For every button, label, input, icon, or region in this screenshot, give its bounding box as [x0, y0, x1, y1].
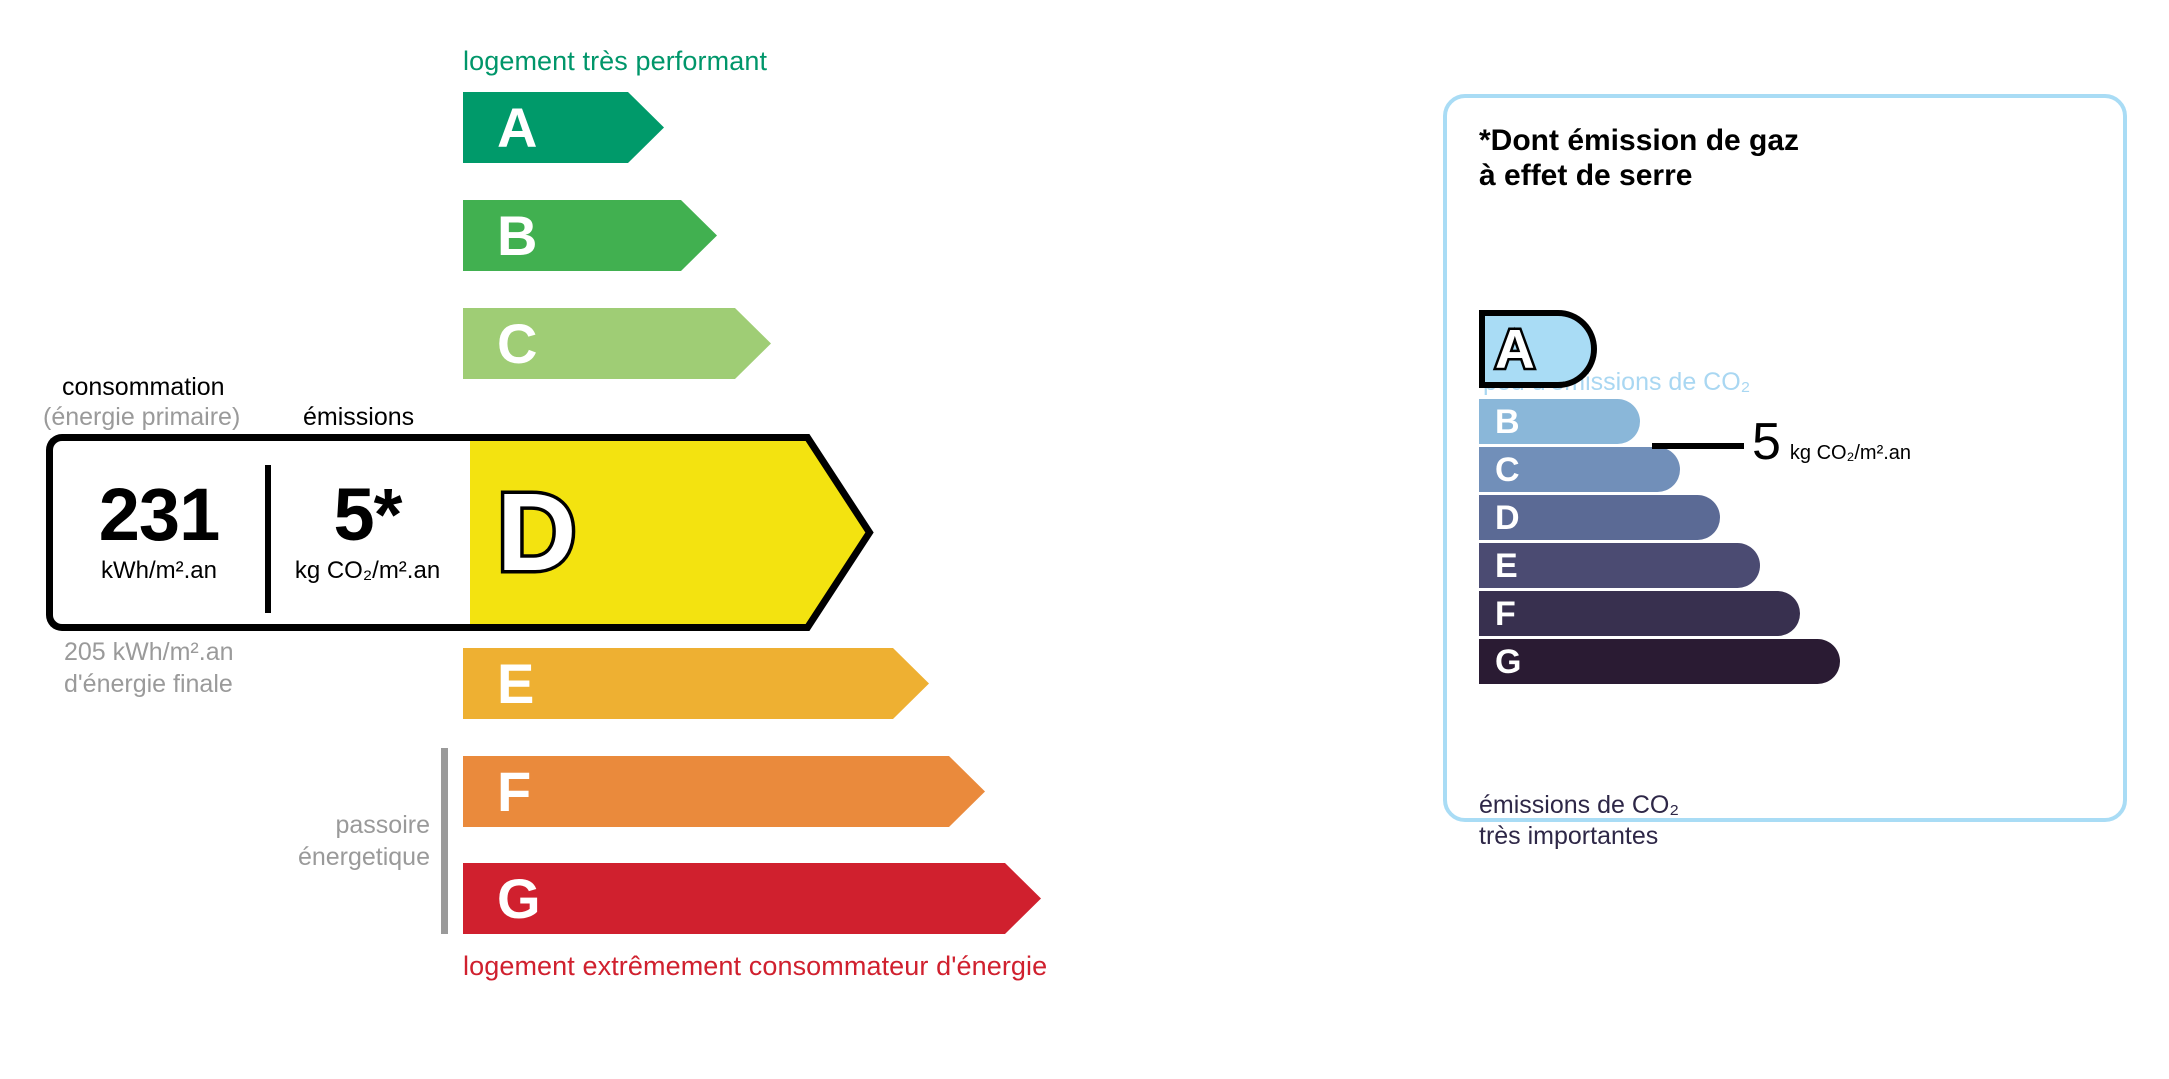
- co2-value-unit: kg CO₂/m².an: [1790, 442, 1911, 465]
- co2-bar-shape-g: [1479, 639, 1840, 684]
- co2-bar-f: F: [1479, 591, 1800, 636]
- energy-band-d: D: [463, 434, 873, 631]
- energy-band-g: G: [463, 863, 1041, 934]
- co2-bar-a: A: [1479, 310, 1597, 388]
- co2-bar-letter-d: D: [1495, 501, 1520, 535]
- energy-band-letter-f: F: [497, 764, 531, 820]
- energy-band-letter-g: G: [497, 871, 541, 927]
- consumption-unit: kWh/m².an: [101, 557, 217, 585]
- scale-bottom-caption: logement extrêmement consommateur d'éner…: [463, 951, 1047, 982]
- co2-bar-letter-c: C: [1495, 453, 1520, 487]
- energy-band-shape-a: [463, 92, 664, 163]
- emission-unit: kg CO₂/m².an: [295, 557, 440, 585]
- final-energy-line1: 205 kWh/m².an: [64, 637, 234, 669]
- co2-bar-letter-b: B: [1495, 405, 1520, 439]
- label-emissions: émissions: [303, 403, 414, 432]
- energy-band-letter-c: C: [497, 316, 537, 372]
- label-primary-energy: (énergie primaire): [43, 403, 240, 432]
- emission-cell: 5* kg CO₂/m².an: [265, 441, 470, 624]
- co2-bar-g: G: [1479, 639, 1840, 684]
- co2-value-number: 5: [1752, 416, 1781, 468]
- co2-title-line2: à effet de serre: [1479, 159, 1799, 194]
- co2-bottom-caption: émissions de CO₂ très importantes: [1479, 790, 1679, 851]
- energy-band-letter-e: E: [497, 656, 534, 712]
- energy-band-a: A: [463, 92, 664, 163]
- consumption-cell: 231 kWh/m².an: [53, 441, 265, 624]
- energy-scale-chart: logement très performant ABCDEFG 231 kWh…: [0, 0, 1400, 1079]
- co2-bar-d: D: [1479, 495, 1720, 540]
- energy-band-letter-d: D: [497, 478, 576, 588]
- emission-value: 5*: [334, 480, 402, 550]
- label-consumption: consommation: [62, 373, 225, 402]
- passoire-line2: énergetique: [250, 842, 430, 874]
- value-box: 231 kWh/m².an 5* kg CO₂/m².an: [46, 434, 470, 631]
- energy-band-c: C: [463, 308, 771, 379]
- co2-bar-e: E: [1479, 543, 1760, 588]
- energy-band-f: F: [463, 756, 985, 827]
- co2-title-line1: *Dont émission de gaz: [1479, 124, 1799, 159]
- energy-band-letter-a: A: [497, 100, 537, 156]
- passoire-bracket: [441, 748, 448, 934]
- energy-band-b: B: [463, 200, 717, 271]
- co2-bottom-line1: émissions de CO₂: [1479, 790, 1679, 821]
- co2-bar-letter-f: F: [1495, 597, 1516, 631]
- scale-top-caption: logement très performant: [463, 46, 767, 77]
- co2-bar-letter-e: E: [1495, 549, 1518, 583]
- energy-band-shape-g: [463, 863, 1041, 934]
- co2-bottom-line2: très importantes: [1479, 821, 1679, 852]
- co2-bar-shape-f: [1479, 591, 1800, 636]
- co2-bar-letter-a: A: [1495, 322, 1535, 377]
- passoire-line1: passoire: [250, 810, 430, 842]
- passoire-label: passoire énergetique: [250, 810, 430, 873]
- final-energy-note: 205 kWh/m².an d'énergie finale: [64, 637, 234, 700]
- co2-panel: *Dont émission de gaz à effet de serre p…: [1443, 94, 2127, 822]
- consumption-value: 231: [99, 480, 219, 550]
- co2-bar-shape-e: [1479, 543, 1760, 588]
- final-energy-line2: d'énergie finale: [64, 669, 234, 701]
- energy-band-letter-b: B: [497, 208, 537, 264]
- co2-connector-line: [1652, 443, 1744, 449]
- co2-bar-letter-g: G: [1495, 645, 1521, 679]
- energy-band-shape-f: [463, 756, 985, 827]
- co2-bar-b: B: [1479, 399, 1640, 444]
- energy-band-e: E: [463, 648, 929, 719]
- co2-bar-c: C: [1479, 447, 1680, 492]
- co2-panel-title: *Dont émission de gaz à effet de serre: [1479, 124, 1799, 194]
- co2-value-readout: 5 kg CO₂/m².an: [1752, 416, 1911, 468]
